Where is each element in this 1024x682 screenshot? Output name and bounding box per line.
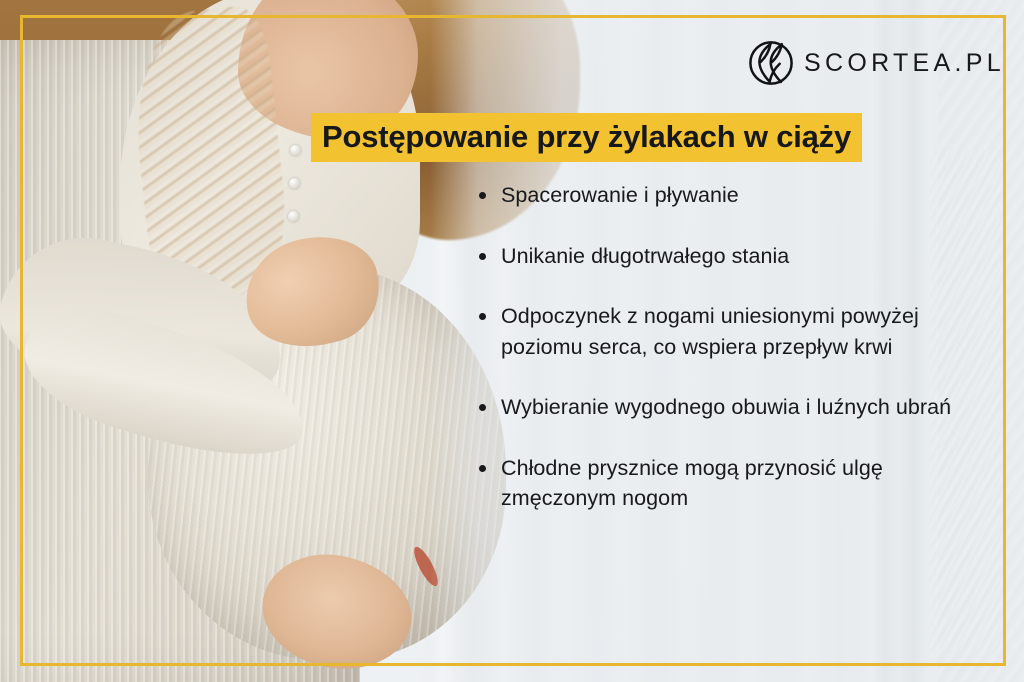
- photo-dress-button: [290, 145, 301, 156]
- recommendations-list: Spacerowanie i pływanie Unikanie długotr…: [474, 180, 984, 514]
- photo-dress-button: [289, 178, 300, 189]
- list-item: Spacerowanie i pływanie: [474, 180, 984, 211]
- list-item: Unikanie długotrwałego stania: [474, 241, 984, 272]
- brand-logo: SCORTEA.PL: [748, 40, 1005, 86]
- infographic-canvas: SCORTEA.PL Postępowanie przy żylakach w …: [0, 0, 1024, 682]
- list-item: Odpoczynek z nogami uniesionymi powyżej …: [474, 301, 984, 362]
- scortea-logo-icon: [748, 40, 794, 86]
- photo-dress-button: [288, 211, 299, 222]
- list-item: Chłodne prysznice mogą przynosić ulgę zm…: [474, 453, 984, 514]
- brand-name: SCORTEA.PL: [804, 49, 1005, 78]
- list-item: Wybieranie wygodnego obuwia i luźnych ub…: [474, 392, 984, 423]
- page-title: Postępowanie przy żylakach w ciąży: [322, 120, 851, 153]
- title-highlight-band: Postępowanie przy żylakach w ciąży: [311, 113, 862, 162]
